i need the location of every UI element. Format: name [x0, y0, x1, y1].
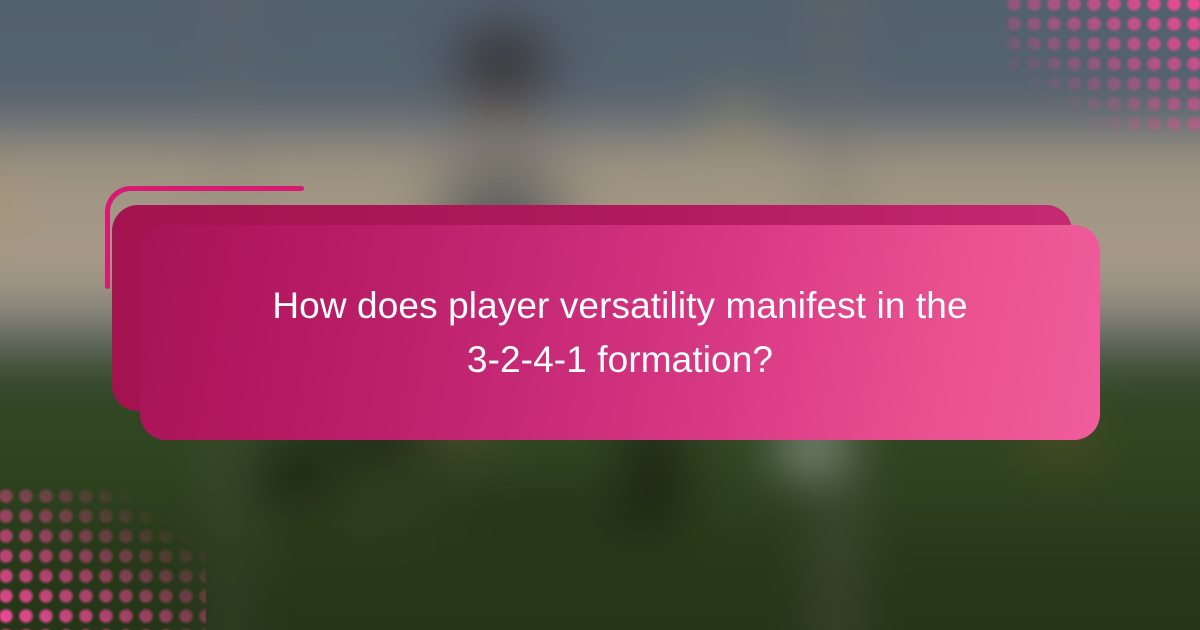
halftone-dots-bottom-left-icon — [0, 486, 206, 630]
question-card: How does player versatility manifest in … — [140, 225, 1100, 440]
page-title: How does player versatility manifest in … — [202, 279, 1037, 386]
halftone-dots-top-right-icon — [1004, 0, 1200, 134]
headline-line-2: 3-2-4-1 formation? — [272, 333, 967, 387]
social-card-canvas: How does player versatility manifest in … — [0, 0, 1200, 630]
headline-line-1: How does player versatility manifest in … — [272, 279, 967, 333]
